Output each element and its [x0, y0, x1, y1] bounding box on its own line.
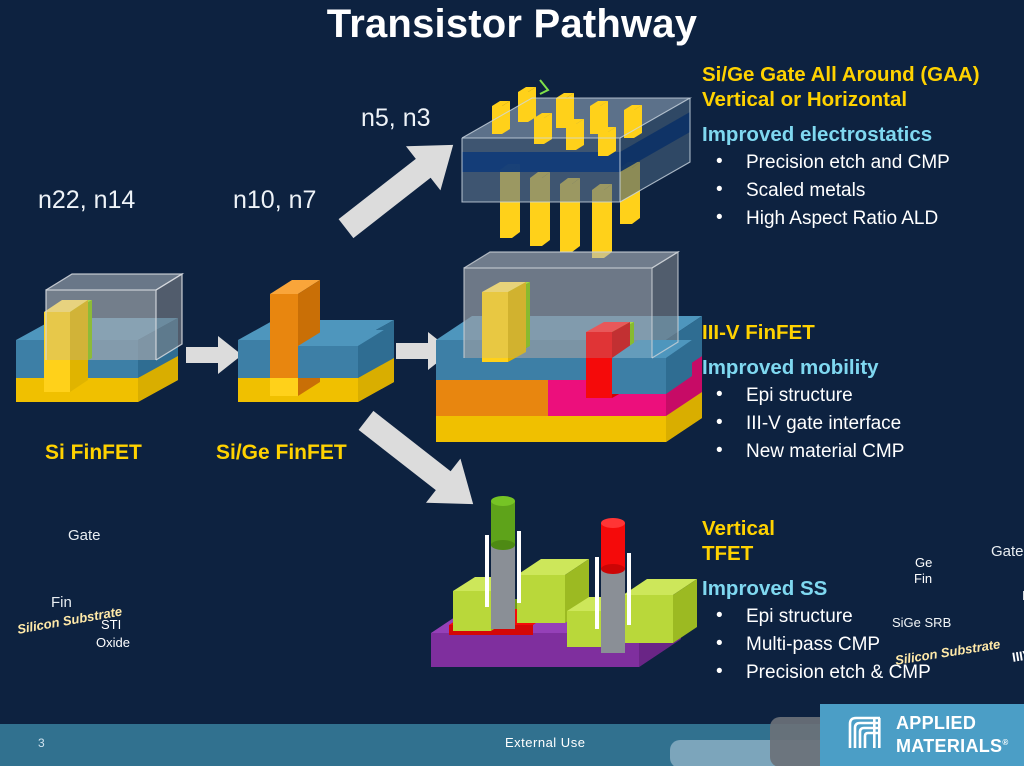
applied-materials-spiral-icon [844, 712, 886, 759]
list-item: Precision etch and CMP [702, 149, 1024, 177]
tfet-heading-line-1: Vertical [702, 516, 1024, 541]
registered-trademark-icon: ® [1002, 738, 1008, 747]
list-item: Multi-pass CMP [702, 631, 1024, 659]
gaa-heading-line-2: Vertical or Horizontal [702, 87, 1024, 112]
list-item: Epi structure [702, 382, 1024, 410]
gaa-bullet-list: Precision etch and CMP Scaled metals Hig… [702, 149, 1024, 233]
node-label-n10-n7: n10, n7 [233, 186, 316, 215]
caption-si-finfet: Si FinFET [45, 441, 142, 465]
list-item: Scaled metals [702, 177, 1024, 205]
tfet-bullet-list: Epi structure Multi-pass CMP Precision e… [702, 603, 1024, 687]
list-item: III-V gate interface [702, 410, 1024, 438]
slide-canvas: Transistor Pathway n22, n14 n10, n7 n5, … [0, 0, 1024, 766]
text-block-iiiv: III-V FinFET Improved mobility Epi struc… [702, 320, 1024, 466]
label-si-gate: Gate [68, 528, 101, 543]
iiiv-heading-line-1: III-V FinFET [702, 320, 1024, 345]
figure-iiiv-finfet: Ge Fin Gate IIIV Fin SiGe SRB IIIV SRB S… [430, 240, 710, 470]
external-use-label: External Use [505, 735, 585, 750]
arrow-sige-to-gaa [326, 131, 471, 246]
list-item: High Aspect Ratio ALD [702, 205, 1024, 233]
list-item: New material CMP [702, 438, 1024, 466]
text-block-tfet: Vertical TFET Improved SS Epi structure … [702, 516, 1024, 687]
applied-materials-wordmark: APPLIED MATERIALS® [896, 714, 1009, 756]
tfet-subheading: Improved SS [702, 574, 1024, 603]
node-label-n22-n14: n22, n14 [38, 186, 135, 215]
tfet-heading-line-2: TFET [702, 541, 1024, 566]
label-si-sti: STI [101, 617, 121, 632]
slide-number: 3 [38, 736, 45, 750]
figure-vertical-tfet: III-V (n+) SiGe (P+) i-Si N-Well P-Well [425, 495, 710, 695]
logo-line-1: APPLIED [896, 713, 976, 733]
logo-line-2: MATERIALS [896, 736, 1002, 756]
figure-gaa [452, 60, 702, 260]
figure-si-finfet: Gate Fin STI Oxide Silicon Substrate [10, 250, 190, 430]
iiiv-bullet-list: Epi structure III-V gate interface New m… [702, 382, 1024, 466]
iiiv-subheading: Improved mobility [702, 353, 1024, 382]
node-label-n5-n3: n5, n3 [361, 104, 431, 133]
label-si-substrate: Silicon Substrate [16, 604, 123, 637]
caption-sige-finfet: Si/Ge FinFET [216, 441, 347, 465]
gaa-subheading: Improved electrostatics [702, 120, 1024, 149]
list-item: Epi structure [702, 603, 1024, 631]
figure-sige-finfet: New Fin Material STI Oxide Silicon Subst… [232, 250, 402, 430]
applied-materials-logo: APPLIED MATERIALS® [820, 704, 1024, 766]
list-item: Precision etch & CMP [702, 659, 1024, 687]
gaa-heading-line-1: Si/Ge Gate All Around (GAA) [702, 62, 1024, 87]
text-block-gaa: Si/Ge Gate All Around (GAA) Vertical or … [702, 62, 1024, 233]
label-si-fin: Fin [51, 595, 72, 610]
page-title: Transistor Pathway [0, 2, 1024, 47]
label-si-oxide: Oxide [96, 635, 130, 650]
